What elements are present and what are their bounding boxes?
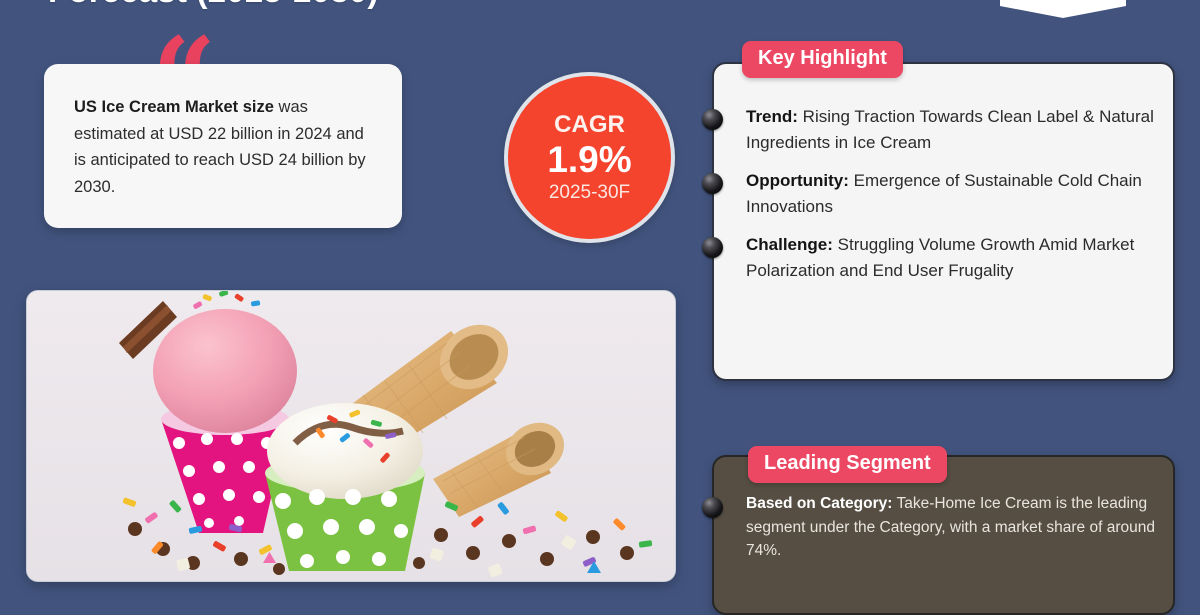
page-title: Forecast (2025-2030) [48, 0, 379, 10]
leading-segment-badge: Leading Segment [748, 446, 947, 483]
logo-badge-icon [1000, 0, 1126, 18]
infographic-page: Forecast (2025-2030) “ US Ice Cream Mark… [0, 0, 1200, 600]
bullet-body: Rising Traction Towards Clean Label & Na… [746, 107, 1154, 152]
bullet-dot-icon [702, 237, 723, 258]
bullet-text: Opportunity: Emergence of Sustainable Co… [746, 168, 1164, 219]
bullet-label: Opportunity: [746, 171, 849, 190]
bullet-text: Based on Category: Take-Home Ice Cream i… [746, 492, 1164, 563]
bullet-dot-icon [702, 497, 723, 518]
ice-cream-photo [26, 290, 676, 582]
market-size-summary-text: US Ice Cream Market size was estimated a… [74, 94, 372, 201]
bullet-label: Challenge: [746, 235, 833, 254]
bullet-text: Challenge: Struggling Volume Growth Amid… [746, 232, 1164, 283]
bullet-label: Based on Category: [746, 495, 892, 512]
cagr-label: CAGR [554, 113, 625, 137]
list-item: Based on Category: Take-Home Ice Cream i… [712, 492, 1164, 563]
bullet-dot-icon [702, 109, 723, 130]
leading-segment-bullet-list: Based on Category: Take-Home Ice Cream i… [712, 492, 1164, 563]
list-item: Trend: Rising Traction Towards Clean Lab… [712, 104, 1164, 155]
list-item: Opportunity: Emergence of Sustainable Co… [712, 168, 1164, 219]
key-highlight-badge: Key Highlight [742, 41, 903, 78]
list-item: Challenge: Struggling Volume Growth Amid… [712, 232, 1164, 283]
bullet-label: Trend: [746, 107, 798, 126]
market-size-summary-card: US Ice Cream Market size was estimated a… [44, 64, 402, 228]
key-highlight-bullet-list: Trend: Rising Traction Towards Clean Lab… [712, 104, 1164, 283]
cagr-badge: CAGR 1.9% 2025-30F [504, 72, 675, 243]
bullet-text: Trend: Rising Traction Towards Clean Lab… [746, 104, 1164, 155]
market-size-bold-lead: US Ice Cream Market size [74, 98, 274, 116]
ice-cream-photo-illustration [27, 291, 675, 581]
bullet-dot-icon [702, 173, 723, 194]
cagr-value: 1.9% [547, 141, 631, 180]
cagr-period: 2025-30F [549, 183, 630, 202]
